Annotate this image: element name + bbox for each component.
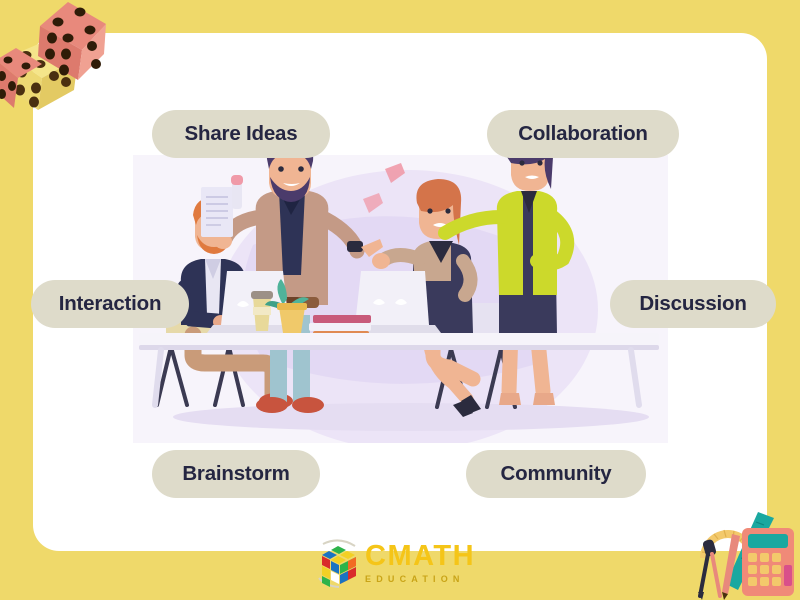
team-meeting-illustration [133,155,668,443]
logo-tagline: EDUCATION [365,575,465,584]
pill-label: Collaboration [518,122,648,146]
rubiks-cube-icon [315,538,363,588]
compass-icon [698,539,720,600]
logo-wordmark: CMATH [365,542,475,571]
pill-label: Community [501,462,612,486]
calculator-icon [742,528,794,596]
cmath-education-logo: CMATH EDUCATION [315,533,495,593]
pill-label: Brainstorm [182,462,289,486]
pill-discussion[interactable]: Discussion [610,280,776,328]
desk-top [139,333,659,345]
pill-label: Interaction [59,292,162,316]
pill-brainstorm[interactable]: Brainstorm [152,450,320,498]
slide-root: Share Ideas Collaboration Interaction Di… [0,0,800,600]
pill-collaboration[interactable]: Collaboration [487,110,679,158]
floor-shadow [173,403,649,431]
pill-community[interactable]: Community [466,450,646,498]
pill-label: Share Ideas [185,122,298,146]
dice-decoration [0,0,126,118]
pill-label: Discussion [639,292,746,316]
pill-share-ideas[interactable]: Share Ideas [152,110,330,158]
logo-text-group: CMATH EDUCATION [365,542,475,584]
math-tools-decoration [686,508,800,600]
pill-interaction[interactable]: Interaction [31,280,189,328]
